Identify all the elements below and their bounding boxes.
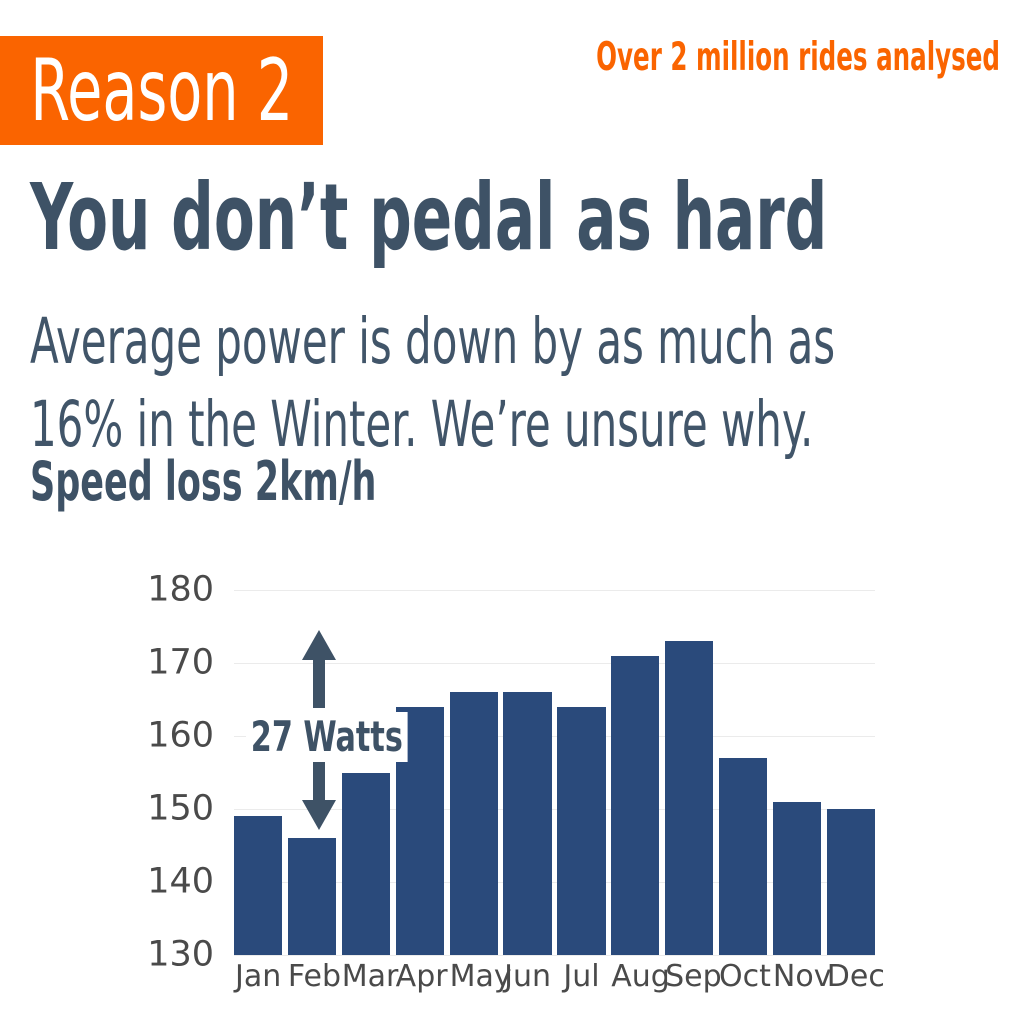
x-axis-tick: Jan [234,962,282,992]
x-axis-tick: Dec [827,962,875,992]
y-axis-tick: 170 [118,646,214,681]
bar-dec[interactable] [827,809,875,955]
chart-bars [234,590,875,955]
bar-slot [503,590,551,955]
x-axis-tick: Oct [719,962,767,992]
gridline [234,882,875,883]
bar-slot [827,590,875,955]
speed-loss-text: Speed loss 2km/h [30,455,376,509]
bar-jan[interactable] [234,816,282,955]
double-headed-vertical-arrow-icon [296,630,342,830]
x-axis-tick: May [450,962,498,992]
reason-badge: Reason 2 [0,36,323,145]
bar-may[interactable] [450,692,498,955]
x-axis-tick: Jun [503,962,551,992]
x-axis-tick: Nov [773,962,821,992]
bar-slot [611,590,659,955]
y-axis-tick: 130 [118,938,214,973]
bar-slot [342,590,390,955]
gridline [234,955,875,956]
gridline [234,663,875,664]
gridline [234,736,875,737]
bar-slot [557,590,605,955]
bar-slot [450,590,498,955]
x-axis-tick: Aug [611,962,659,992]
y-axis-tick: 160 [118,719,214,754]
bar-jul[interactable] [557,707,605,955]
bar-jun[interactable] [503,692,551,955]
x-axis-tick: Mar [342,962,390,992]
bar-oct[interactable] [719,758,767,955]
y-axis-tick: 140 [118,865,214,900]
x-axis-tick: Apr [396,962,444,992]
reason-badge-label: Reason 2 [30,48,293,134]
bar-aug[interactable] [611,656,659,955]
bar-slot [773,590,821,955]
bar-feb[interactable] [288,838,336,955]
bar-slot [288,590,336,955]
y-axis-tick: 150 [118,792,214,827]
subtitle: Average power is down by as much as 16% … [30,300,835,466]
kicker-text: Over 2 million rides analysed [552,38,1000,77]
bar-mar[interactable] [342,773,390,956]
bar-slot [234,590,282,955]
bar-sep[interactable] [665,641,713,955]
x-axis-tick: Sep [665,962,713,992]
bar-slot [396,590,444,955]
page-title: You don’t pedal as hard [30,172,827,264]
chart-gridlines [234,590,875,955]
x-axis-tick: Feb [288,962,336,992]
bar-nov[interactable] [773,802,821,955]
x-axis-tick: Jul [557,962,605,992]
bar-apr[interactable] [396,707,444,955]
gridline [234,590,875,591]
annotation-label: 27 Watts [246,712,408,762]
bar-slot [665,590,713,955]
y-axis-tick: 180 [118,573,214,608]
subtitle-line-1: Average power is down by as much as [30,300,835,383]
x-axis-tick-labels: JanFebMarAprMayJunJulAugSepOctNovDec [234,962,875,992]
gridline [234,809,875,810]
bar-slot [719,590,767,955]
y-axis-tick-labels: 180170160150140130 [118,590,214,955]
